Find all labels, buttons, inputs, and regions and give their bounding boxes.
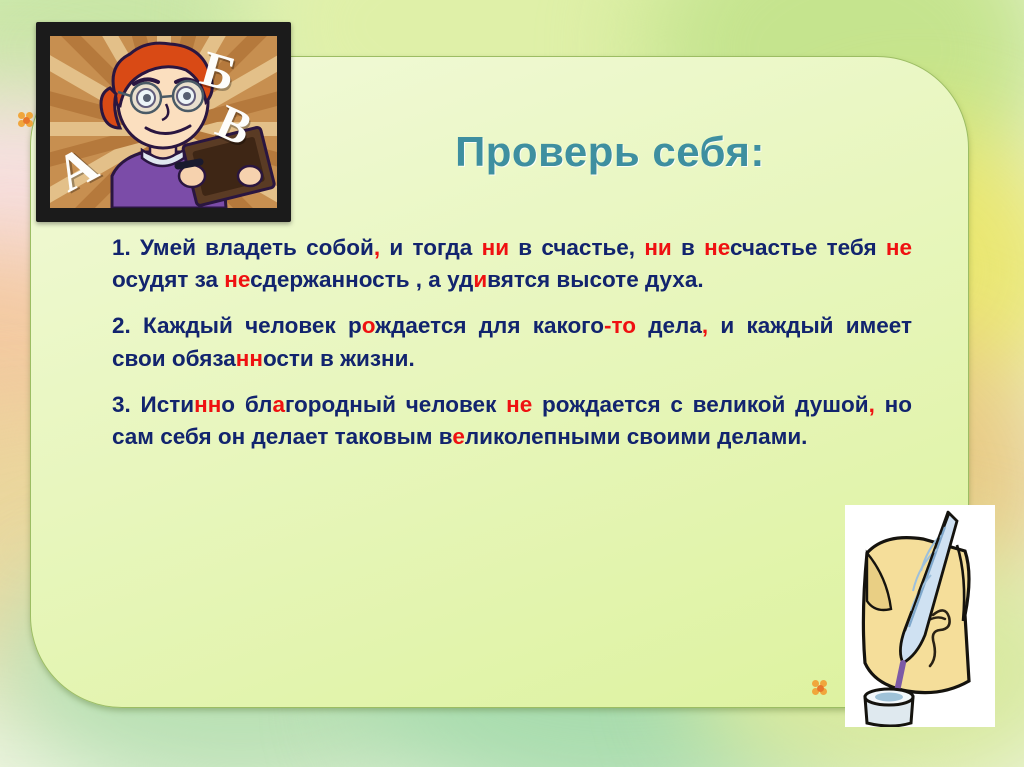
plain-text: Исти — [131, 392, 194, 417]
highlighted-text: нн — [194, 392, 221, 417]
highlighted-text: а — [272, 392, 285, 417]
highlighted-text: и — [473, 267, 487, 292]
plain-text: ждается для какого — [375, 313, 604, 338]
plain-text: в — [672, 235, 704, 260]
list-item-number: 1. — [112, 235, 131, 260]
highlighted-text: е — [452, 424, 465, 449]
highlighted-text: не — [704, 235, 730, 260]
list-item: 3. Истинно благородный человек не рождае… — [112, 389, 912, 453]
highlighted-text: -то — [604, 313, 636, 338]
list-item-number: 3. — [112, 392, 131, 417]
teacher-illustration: Б В А — [36, 22, 291, 222]
quill-figure — [845, 505, 995, 727]
quill-illustration — [845, 505, 995, 727]
highlighted-text: о — [362, 313, 375, 338]
plain-text: в счастье, — [509, 235, 644, 260]
plain-text: ости в жизни. — [263, 346, 415, 371]
body-text: 1. Умей владеть собой, и тогда ни в счас… — [112, 232, 912, 453]
plain-text: Каждый человек р — [131, 313, 362, 338]
highlighted-text: не — [224, 267, 250, 292]
plain-text: дела — [636, 313, 702, 338]
plain-text: о бл — [221, 392, 272, 417]
plain-text: осудят за — [112, 267, 224, 292]
page-title: Проверь себя: — [300, 128, 920, 176]
plain-text: ликолепными своими делами. — [465, 424, 808, 449]
plain-text: счастье тебя — [730, 235, 886, 260]
highlighted-text: ни — [482, 235, 509, 260]
plain-text: Умей владеть собой — [131, 235, 374, 260]
highlighted-text: не — [506, 392, 532, 417]
teacher-illustration-inner: Б В А — [50, 36, 277, 208]
flower-decoration-icon — [18, 112, 34, 128]
plain-text: городный человек — [285, 392, 506, 417]
highlighted-text: не — [886, 235, 912, 260]
plain-text: сдержанность , а уд — [250, 267, 473, 292]
highlighted-text: нн — [236, 346, 263, 371]
plain-text: рождается с великой душой — [532, 392, 868, 417]
plain-text: вятся высоте духа. — [487, 267, 703, 292]
flower-decoration-icon — [812, 680, 828, 696]
highlighted-text: ни — [644, 235, 671, 260]
plain-text: и тогда — [380, 235, 481, 260]
list-item-number: 2. — [112, 313, 131, 338]
list-item: 2. Каждый человек рождается для какого-т… — [112, 310, 912, 374]
list-item: 1. Умей владеть собой, и тогда ни в счас… — [112, 232, 912, 296]
